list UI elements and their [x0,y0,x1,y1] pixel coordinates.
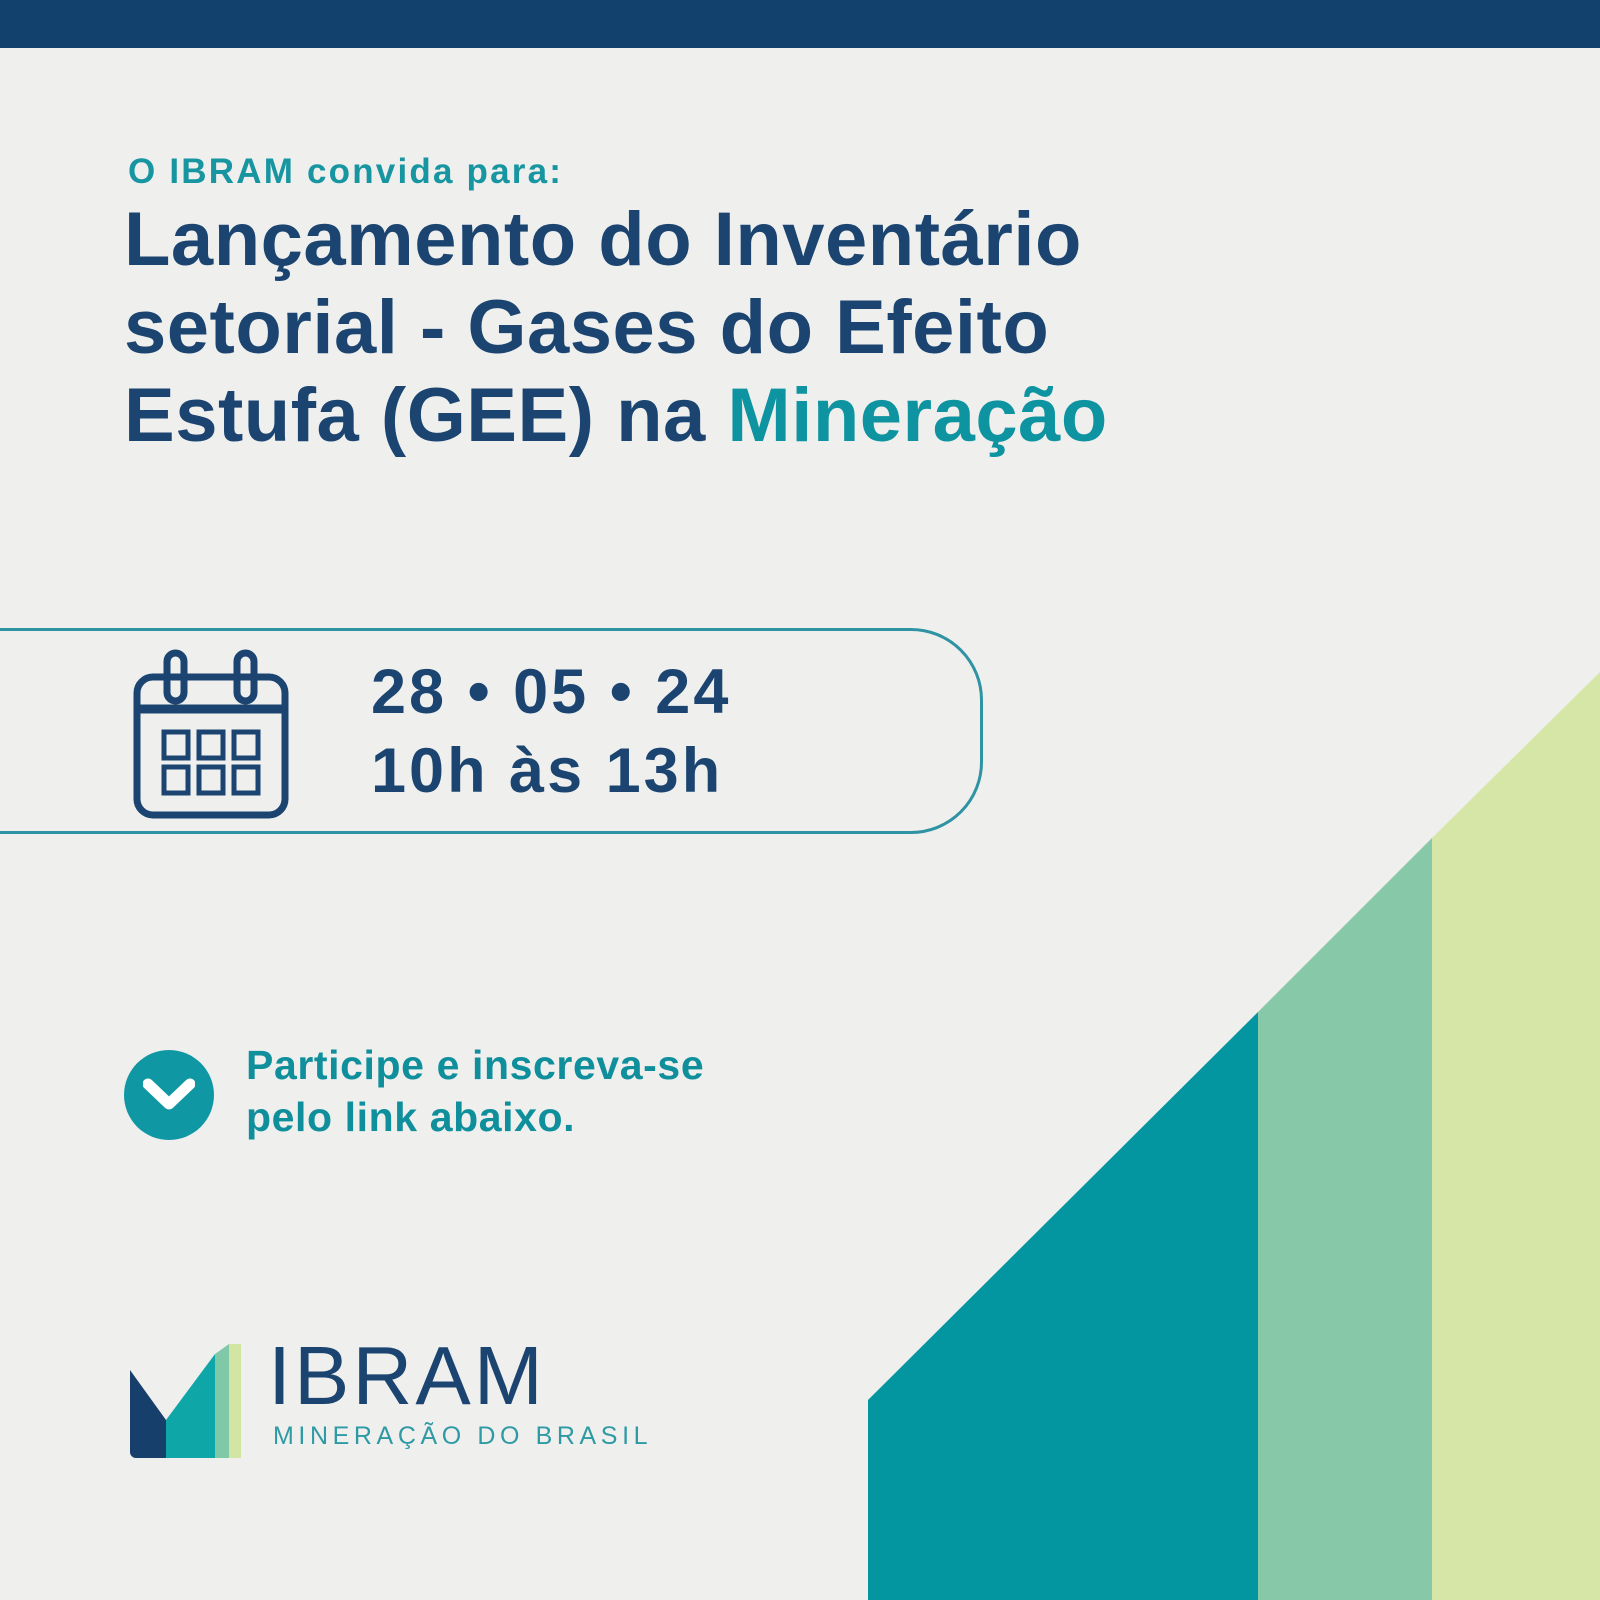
chevron-down-icon-glyph [143,1078,195,1112]
poster-canvas: O IBRAM convida para: Lançamento do Inve… [0,0,1600,1600]
headline-line-2: setorial - Gases do Efeito [124,284,1324,372]
cta-block[interactable]: Participe e inscreva-se pelo link abaixo… [124,1040,704,1143]
calendar-icon [121,645,301,825]
headline-line-3: Estufa (GEE) na Mineração [124,372,1324,460]
eyebrow-text: O IBRAM convida para: [128,152,563,192]
headline-line-1: Lançamento do Inventário [124,196,1324,284]
ibram-tagline: MINERAÇÃO DO BRASIL [273,1422,652,1451]
cta-text: Participe e inscreva-se pelo link abaixo… [246,1040,704,1143]
ibram-logo: IBRAM MINERAÇÃO DO BRASIL [122,1336,652,1465]
cta-line-2: pelo link abaixo. [246,1092,704,1144]
event-time: 10h às 13h [371,732,731,811]
ibram-m-mark-glyph [122,1342,244,1460]
headline-line-3-plain: Estufa (GEE) na [124,373,727,458]
lightgreen-band [1432,672,1600,1600]
ibram-wordmark: IBRAM MINERAÇÃO DO BRASIL [268,1336,652,1451]
cta-line-1: Participe e inscreva-se [246,1040,704,1092]
headline-accent-word: Mineração [727,373,1107,458]
event-date: 28 • 05 • 24 [371,653,731,732]
ibram-name: IBRAM [268,1336,652,1416]
calendar-icon-glyph [127,647,295,823]
teal-band [868,1012,1258,1600]
event-datetime: 28 • 05 • 24 10h às 13h [371,653,731,812]
event-date-box: 28 • 05 • 24 10h às 13h [0,628,983,834]
top-navy-bar [0,0,1600,48]
page-title: Lançamento do Inventário setorial - Gase… [124,196,1324,460]
green-band [1258,838,1432,1600]
ibram-m-mark-icon [122,1342,244,1465]
chevron-down-icon[interactable] [124,1050,214,1140]
